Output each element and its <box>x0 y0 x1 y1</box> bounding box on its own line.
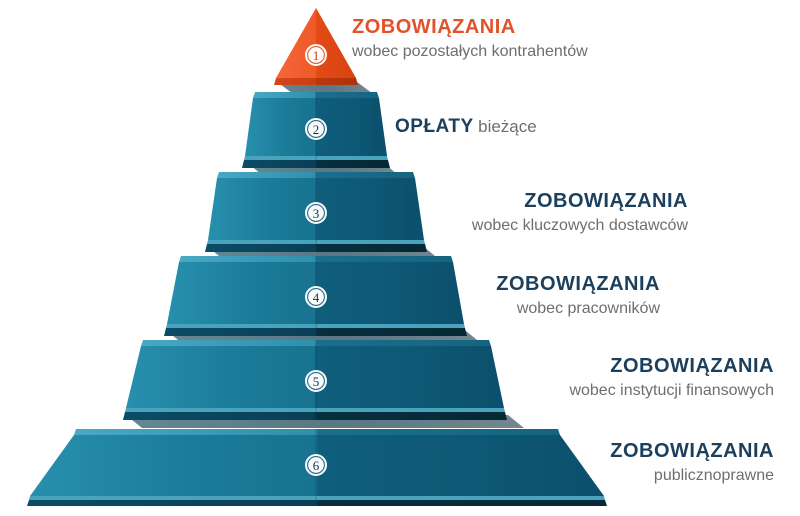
level-1-title: ZOBOWIĄZANIA <box>352 16 588 38</box>
level-1-face <box>276 8 356 78</box>
pyramid-level-5[interactable]: 5 <box>123 340 524 428</box>
level-2-label: OPŁATY bieżące <box>395 116 537 137</box>
pyramid-level-4[interactable]: 4 <box>164 256 482 344</box>
level-1-lip <box>274 78 358 85</box>
level-6-subtitle: publicznoprawne <box>610 466 774 485</box>
level-4-number: 4 <box>313 290 320 305</box>
level-1-label: ZOBOWIĄZANIA wobec pozostałych kontrahen… <box>352 16 588 62</box>
level-6-badge: 6 <box>305 454 327 476</box>
level-2-number: 2 <box>313 122 320 137</box>
level-6-number: 6 <box>313 458 320 473</box>
level-3-badge: 3 <box>305 202 327 224</box>
pyramid-level-3[interactable]: 3 <box>205 172 440 260</box>
level-5-number: 5 <box>313 374 320 389</box>
level-2-subtitle: bieżące <box>478 117 537 136</box>
level-5-badge: 5 <box>305 370 327 392</box>
level-4-label: ZOBOWIĄZANIA wobec pracowników <box>496 273 660 319</box>
level-1-subtitle: wobec pozostałych kontrahentów <box>352 42 588 61</box>
level-1-number: 1 <box>313 48 320 63</box>
pyramid-diagram: 1 2 <box>0 0 800 516</box>
level-3-number: 3 <box>313 206 320 221</box>
level-4-title: ZOBOWIĄZANIA <box>496 273 660 295</box>
level-6-highlight <box>29 496 605 500</box>
level-4-lip <box>164 328 467 336</box>
pyramid-level-2[interactable]: 2 <box>242 92 399 176</box>
level-6-top <box>74 429 560 435</box>
level-4-badge: 4 <box>305 286 327 308</box>
level-2-title: OPŁATY <box>395 116 474 137</box>
level-3-title: ZOBOWIĄZANIA <box>472 190 688 212</box>
level-2-badge: 2 <box>305 118 327 140</box>
level-5-lip <box>123 412 507 420</box>
level-6-label: ZOBOWIĄZANIA publicznoprawne <box>610 440 774 486</box>
pyramid-graphic: 1 2 <box>0 0 800 516</box>
pyramid-level-6[interactable]: 6 <box>27 429 607 506</box>
level-5-title: ZOBOWIĄZANIA <box>569 355 774 377</box>
level-1-badge: 1 <box>305 44 327 66</box>
level-3-label: ZOBOWIĄZANIA wobec kluczowych dostawców <box>472 190 688 236</box>
level-4-subtitle: wobec pracowników <box>496 299 660 318</box>
level-5-label: ZOBOWIĄZANIA wobec instytucji finansowyc… <box>569 355 774 401</box>
level-5-subtitle: wobec instytucji finansowych <box>569 381 774 400</box>
level-6-title: ZOBOWIĄZANIA <box>610 440 774 462</box>
level-6-lip <box>27 500 607 506</box>
level-5-highlight <box>125 408 505 412</box>
level-4-highlight <box>166 324 465 328</box>
level-3-subtitle: wobec kluczowych dostawców <box>472 216 688 235</box>
